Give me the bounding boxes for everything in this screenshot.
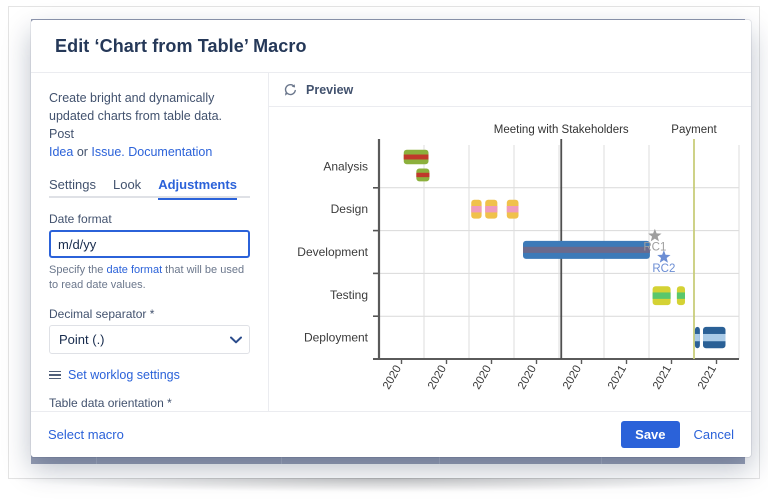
- x-tick-6: 2021: [651, 364, 674, 392]
- intro-line-1: Create bright and dynamically: [49, 91, 214, 105]
- cancel-button[interactable]: Cancel: [694, 427, 734, 442]
- select-macro-link[interactable]: Select macro: [48, 427, 124, 442]
- x-tick-2: 2020: [471, 364, 494, 392]
- documentation-link[interactable]: Documentation: [128, 145, 212, 159]
- preview-panel: Preview Meeting with StakeholdersPayment…: [269, 73, 751, 411]
- list-icon: [49, 369, 61, 382]
- edit-macro-dialog: Edit ‘Chart from Table’ Macro Create bri…: [31, 20, 751, 457]
- set-worklog-settings-button[interactable]: Set worklog settings: [49, 368, 250, 382]
- annotation-label-0: Meeting with Stakeholders: [494, 124, 629, 136]
- y-tick-development: Development: [297, 245, 368, 259]
- save-button[interactable]: Save: [621, 421, 679, 448]
- settings-tabs: Settings Look Adjustments: [49, 175, 250, 198]
- x-tick-5: 2021: [606, 364, 629, 392]
- intro-or: or: [73, 145, 91, 159]
- dialog-footer: Select macro Save Cancel: [31, 411, 751, 457]
- marker-label-rc2: RC2: [652, 263, 675, 275]
- intro-text: Create bright and dynamically updated ch…: [49, 89, 250, 161]
- date-format-hint: Specify the date format that will be use…: [49, 263, 250, 293]
- preview-label: Preview: [306, 83, 353, 97]
- tab-adjustments[interactable]: Adjustments: [158, 177, 237, 198]
- footer-actions: Save Cancel: [621, 421, 734, 448]
- idea-link[interactable]: Idea: [49, 145, 73, 159]
- refresh-icon[interactable]: [283, 83, 297, 97]
- table-orientation-label: Table data orientation *: [49, 396, 250, 410]
- marker-label-rc1: RC1: [643, 242, 666, 254]
- y-tick-design: Design: [331, 202, 368, 216]
- gantt-chart: Meeting with StakeholdersPaymentRC1RC2An…: [269, 107, 751, 411]
- issue-link[interactable]: Issue.: [91, 145, 124, 159]
- date-format-label: Date format: [49, 212, 250, 226]
- date-format-hint-pre: Specify the: [49, 264, 106, 276]
- decimal-separator-label: Decimal separator *: [49, 307, 250, 321]
- x-tick-3: 2020: [516, 364, 539, 392]
- decimal-separator-select-wrap: Point (.): [49, 325, 250, 354]
- y-tick-testing: Testing: [330, 288, 368, 302]
- decimal-separator-select[interactable]: Point (.): [49, 325, 250, 354]
- worklog-label: Set worklog settings: [68, 368, 180, 382]
- window-shadow: [12, 478, 756, 492]
- intro-line-2: updated charts from table data. Post: [49, 109, 222, 141]
- chart-svg: Meeting with StakeholdersPaymentRC1RC2An…: [269, 107, 751, 411]
- date-format-link[interactable]: date format: [106, 264, 162, 276]
- dialog-header: Edit ‘Chart from Table’ Macro: [31, 20, 751, 72]
- x-tick-7: 2021: [696, 364, 719, 392]
- date-format-input[interactable]: [49, 230, 250, 258]
- y-tick-deployment: Deployment: [304, 331, 369, 345]
- x-tick-1: 2020: [426, 364, 449, 392]
- tab-look[interactable]: Look: [113, 177, 141, 198]
- y-tick-analysis: Analysis: [323, 159, 368, 173]
- x-tick-4: 2020: [561, 364, 584, 392]
- preview-header: Preview: [269, 73, 751, 107]
- settings-panel: Create bright and dynamically updated ch…: [31, 73, 269, 411]
- annotation-label-1: Payment: [671, 124, 717, 136]
- dialog-title: Edit ‘Chart from Table’ Macro: [55, 36, 307, 57]
- x-tick-0: 2020: [381, 364, 404, 392]
- dialog-body: Create bright and dynamically updated ch…: [31, 72, 751, 411]
- tab-settings[interactable]: Settings: [49, 177, 96, 198]
